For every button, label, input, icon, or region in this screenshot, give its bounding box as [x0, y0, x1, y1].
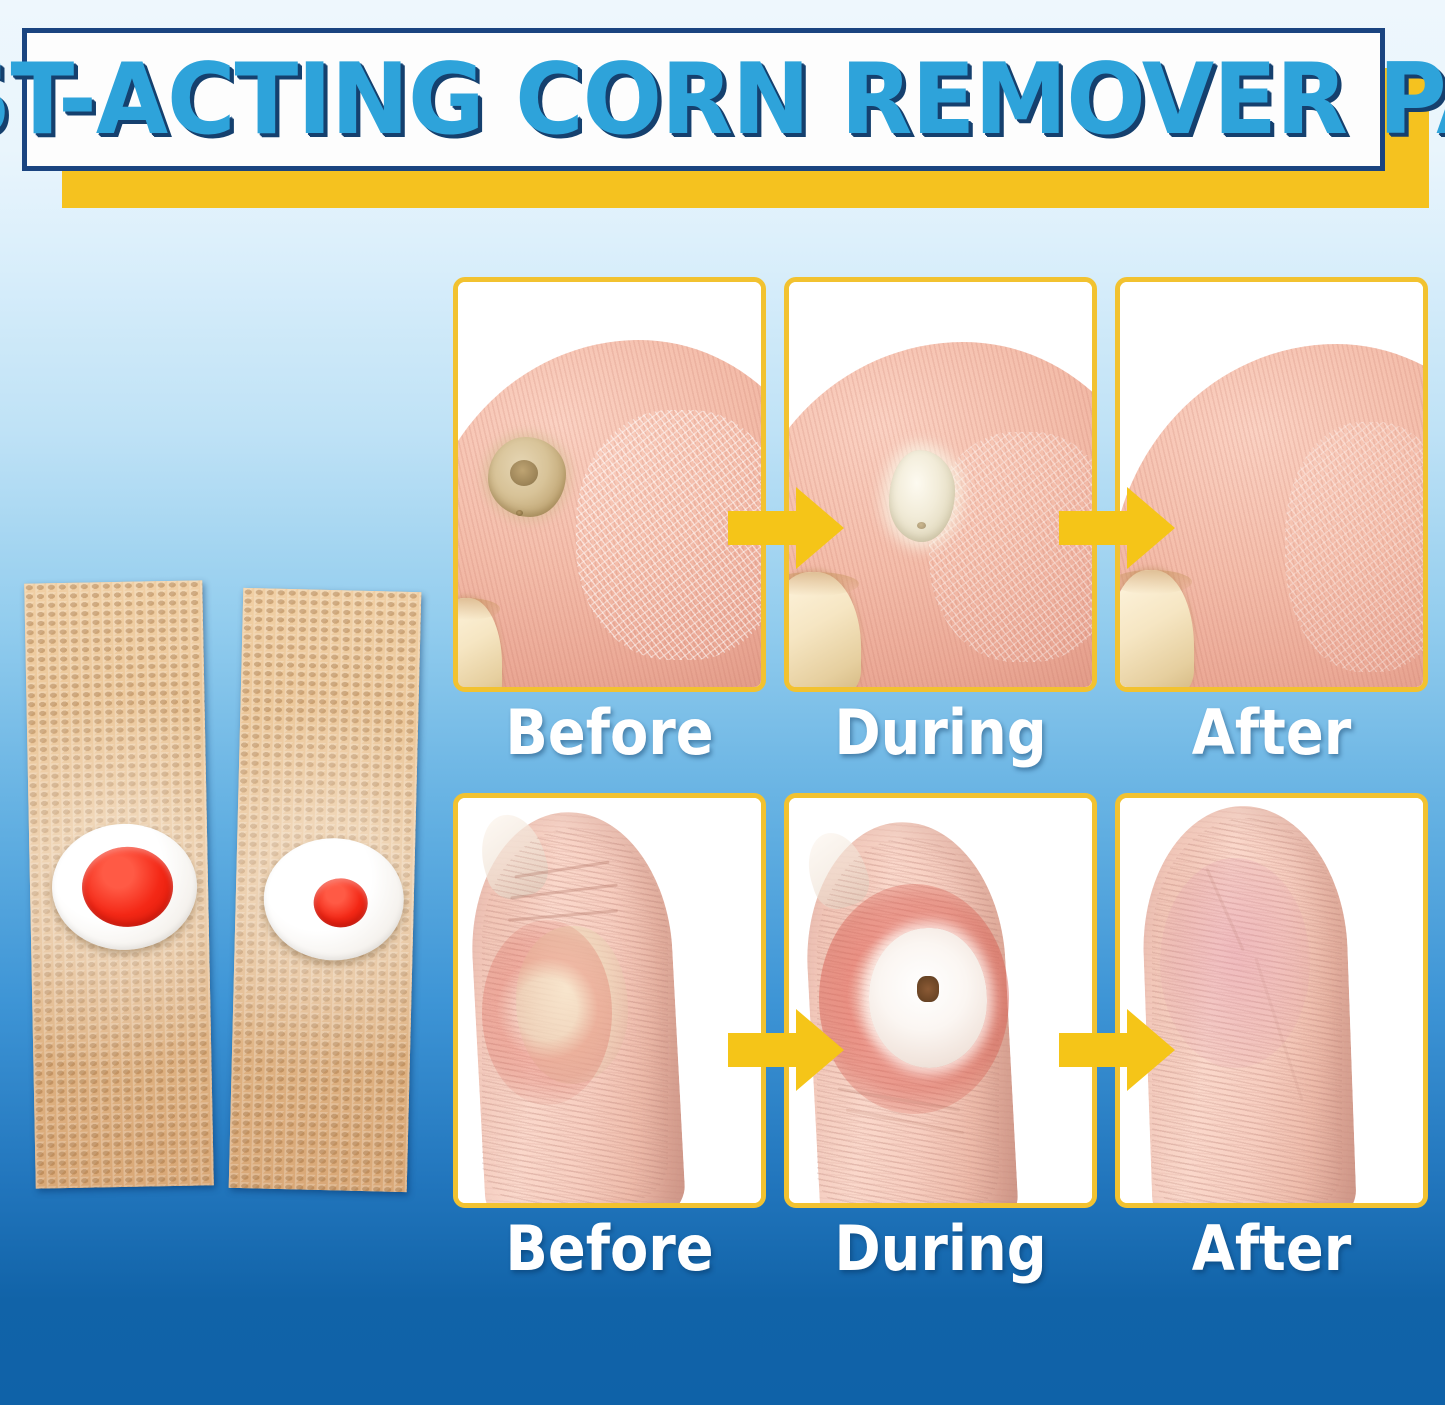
product-pads-group [24, 578, 424, 1203]
finger-after-photo [1120, 798, 1423, 1203]
finger-comparison-row: Before During After [453, 793, 1428, 1308]
active-ingredient-dot-large [81, 846, 174, 928]
page-title: FAST-ACTING CORN REMOVER PAD [0, 51, 1445, 149]
corn-remover-pad-small [229, 588, 422, 1192]
toe-before-photo-panel [453, 277, 766, 692]
toe-during-caption: During [784, 702, 1097, 764]
finger-during-photo-panel [784, 793, 1097, 1208]
toe-after-photo-panel [1115, 277, 1428, 692]
finger-after-photo-panel [1115, 793, 1428, 1208]
finger-before-caption: Before [453, 1218, 766, 1280]
corn-remover-pad-large [24, 580, 214, 1188]
finger-before-photo-panel [453, 793, 766, 1208]
active-ingredient-dot-small [313, 878, 368, 928]
toe-after-caption: After [1115, 702, 1428, 764]
toe-during-photo [789, 282, 1092, 687]
finger-during-photo [789, 798, 1092, 1203]
finger-after-caption: After [1115, 1218, 1428, 1280]
finger-before-photo [458, 798, 761, 1203]
toe-after-photo [1120, 282, 1423, 687]
finger-during-caption: During [784, 1218, 1097, 1280]
toe-comparison-row: Before During After [453, 277, 1428, 782]
title-banner-box: FAST-ACTING CORN REMOVER PAD [22, 28, 1385, 171]
toe-before-photo [458, 282, 761, 687]
medicated-disc-large [51, 823, 198, 952]
medicated-disc-small [262, 837, 405, 962]
toe-before-caption: Before [453, 702, 766, 764]
advertisement-root: FAST-ACTING CORN REMOVER PAD [0, 0, 1445, 1405]
toe-during-photo-panel [784, 277, 1097, 692]
title-banner: FAST-ACTING CORN REMOVER PAD [22, 28, 1385, 171]
